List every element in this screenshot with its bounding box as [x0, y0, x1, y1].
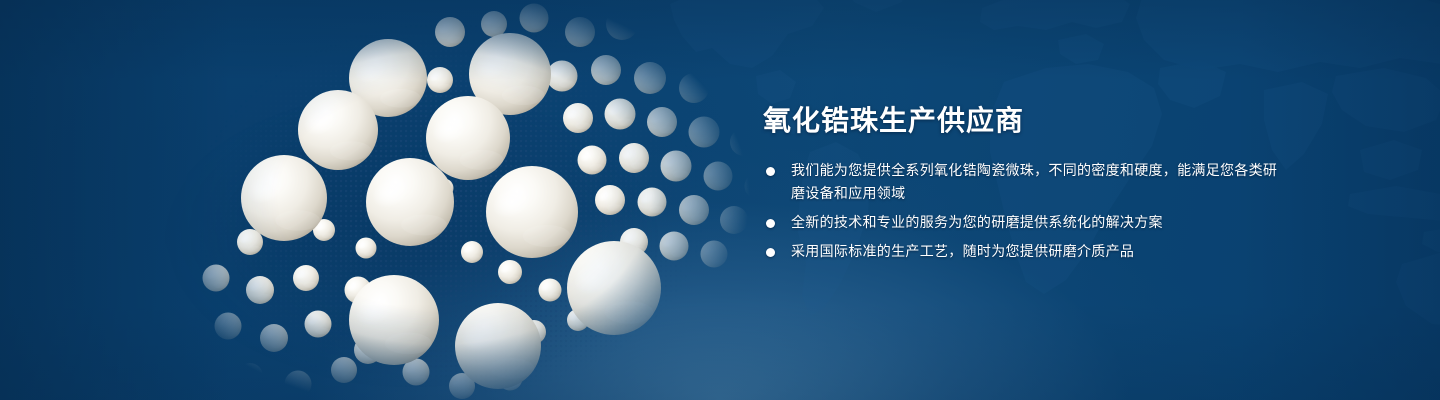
- page-title: 氧化锆珠生产供应商: [763, 104, 1283, 138]
- list-item-label: 采用国际标准的生产工艺，随时为您提供研磨介质产品: [791, 241, 1283, 264]
- list-item-label: 全新的技术和专业的服务为您的研磨提供系统化的解决方案: [791, 212, 1283, 235]
- hero-banner: 氧化锆珠生产供应商 我们能为您提供全系列氧化锆陶瓷微珠，不同的密度和硬度，能满足…: [0, 0, 1440, 400]
- list-item: 我们能为您提供全系列氧化锆陶瓷微珠，不同的密度和硬度，能满足您各类研磨设备和应用…: [763, 160, 1283, 206]
- feature-list: 我们能为您提供全系列氧化锆陶瓷微珠，不同的密度和硬度，能满足您各类研磨设备和应用…: [763, 160, 1283, 264]
- banner-copy: 氧化锆珠生产供应商 我们能为您提供全系列氧化锆陶瓷微珠，不同的密度和硬度，能满足…: [763, 104, 1283, 264]
- bullet-dot-icon: [766, 167, 775, 176]
- bullet-dot-icon: [766, 219, 775, 228]
- zirconia-beads-image: [110, 0, 790, 400]
- list-item-label: 我们能为您提供全系列氧化锆陶瓷微珠，不同的密度和硬度，能满足您各类研磨设备和应用…: [791, 160, 1283, 206]
- list-item: 采用国际标准的生产工艺，随时为您提供研磨介质产品: [763, 241, 1283, 264]
- list-item: 全新的技术和专业的服务为您的研磨提供系统化的解决方案: [763, 212, 1283, 235]
- bullet-dot-icon: [766, 248, 775, 257]
